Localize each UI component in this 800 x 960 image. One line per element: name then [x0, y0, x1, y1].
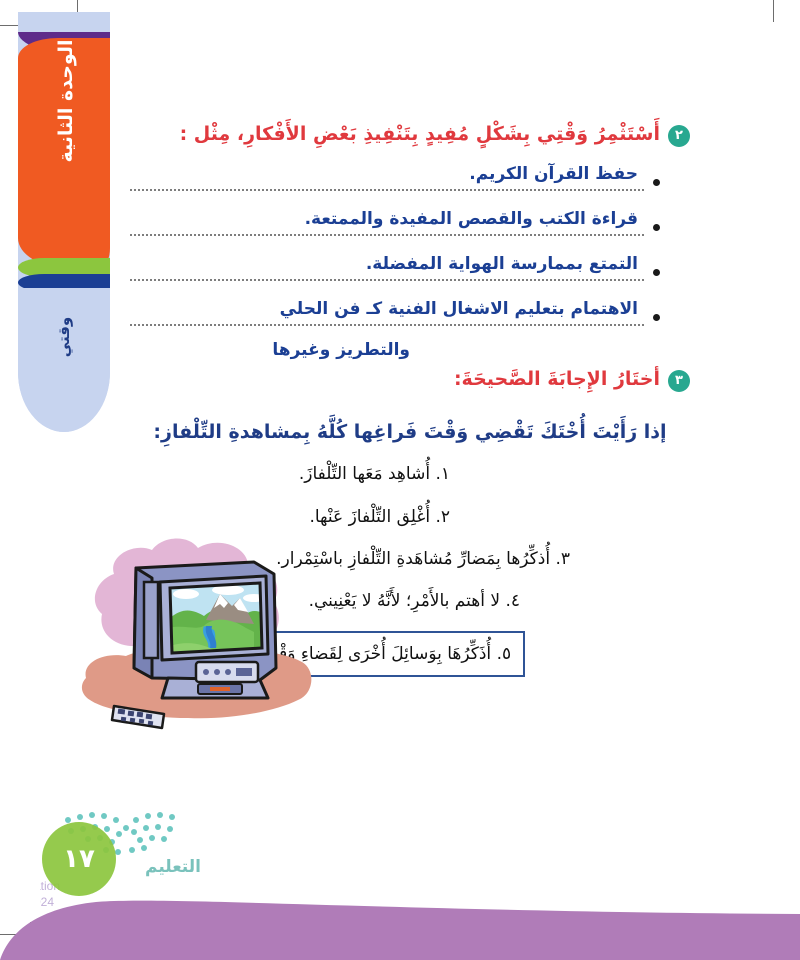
option-1[interactable]: ١. أُشاهِد مَعَها التِّلْفازَ.	[130, 461, 450, 487]
handwritten-answer-4-continuation: والتطريز وغيرها	[272, 335, 410, 365]
tv-speaker-grill	[144, 582, 158, 658]
question-2-heading: ٢ أَسْتَثْمِرُ وَقْتِي بِشَكْلٍ مُفِيدٍ …	[130, 120, 690, 149]
page-number: ١٧	[42, 822, 116, 896]
answer-line-row[interactable]: حفظ القرآن الكريم.	[130, 159, 660, 204]
handwritten-answer-1: حفظ القرآن الكريم.	[469, 159, 638, 189]
tv-indicator-light	[210, 687, 230, 691]
handwritten-answer-2: قراءة الكتب والقصص المفيدة والممتعة.	[305, 204, 638, 234]
crop-mark-top-right-vertical	[773, 0, 774, 22]
ministry-name-arabic: وزارة التعليم	[145, 857, 200, 877]
question-2-answer-lines: حفظ القرآن الكريم. قراءة الكتب والقصص ال…	[130, 159, 660, 369]
option-2[interactable]: ٢. أُغْلِق التِّلْفازَ عَنْها.	[130, 504, 450, 530]
bullet-dot-icon	[653, 179, 660, 186]
dotted-writing-line	[130, 189, 644, 191]
tv-screen-picture	[168, 580, 268, 656]
handwritten-answer-4: الاهتمام بتعليم الاشغال الفنية كـ فن الح…	[280, 294, 638, 324]
dotted-writing-line	[130, 279, 644, 281]
television-illustration	[78, 528, 318, 738]
question-3-prompt: أختَارُ الإِجابَةَ الصَّحيحَةَ:	[454, 365, 660, 394]
tv-knob-icon	[214, 669, 220, 675]
unit-side-tab: الوحدة الثانية وقتي	[18, 12, 110, 432]
unit-title-label: الوحدة الثانية	[55, 12, 77, 211]
wave-shape	[0, 901, 800, 960]
question-3-heading: ٣ أختَارُ الإِجابَةَ الصَّحيحَةَ:	[130, 365, 690, 394]
answer-line-row[interactable]: الاهتمام بتعليم الاشغال الفنية كـ فن الح…	[130, 294, 660, 339]
footer-decorative-wave	[0, 890, 800, 960]
tv-knob-icon	[203, 669, 209, 675]
answer-line-row[interactable]: التمتع بممارسة الهواية المفضلة.	[130, 249, 660, 294]
answer-continuation-row: والتطريز وغيرها	[130, 339, 630, 369]
textbook-page: الوحدة الثانية وقتي ٢ أَسْتَثْمِرُ وَقْت…	[0, 0, 800, 960]
question-2-badge: ٢	[668, 125, 690, 147]
dotted-writing-line	[130, 234, 644, 236]
bullet-dot-icon	[653, 314, 660, 321]
question-3-scenario: إذا رَأَيْتَ أُخْتَكَ تَقْضِي وَقْتَ فَر…	[130, 417, 690, 447]
answer-line-row[interactable]: قراءة الكتب والقصص المفيدة والممتعة.	[130, 204, 660, 249]
topic-title-label: وقتي	[55, 275, 73, 399]
handwritten-answer-3: التمتع بممارسة الهواية المفضلة.	[366, 249, 638, 279]
question-2-prompt: أَسْتَثْمِرُ وَقْتِي بِشَكْلٍ مُفِيدٍ بِ…	[180, 120, 660, 149]
dotted-writing-line	[130, 324, 644, 326]
tv-display-icon	[236, 668, 252, 676]
bullet-dot-icon	[653, 224, 660, 231]
question-3-badge: ٣	[668, 370, 690, 392]
bullet-dot-icon	[653, 269, 660, 276]
tv-knob-icon	[225, 669, 231, 675]
